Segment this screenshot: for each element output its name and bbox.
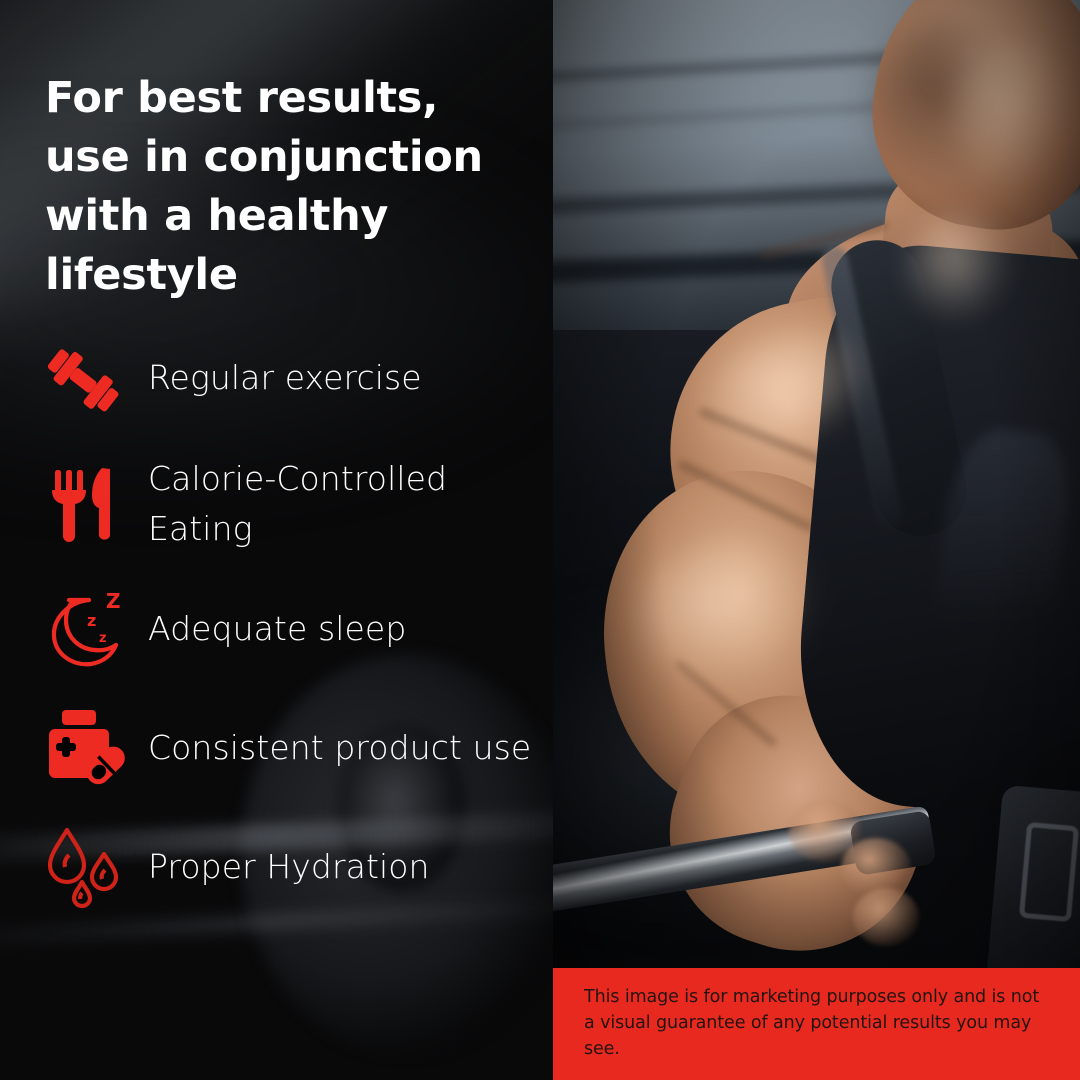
list-item: Z z z Adequate sleep [42, 586, 542, 672]
fork-knife-icon [42, 464, 148, 544]
disclaimer-banner: This image is for marketing purposes onl… [553, 968, 1080, 1080]
left-content-panel: For best results, use in conjunction wit… [0, 0, 553, 1080]
dumbbell-icon [42, 339, 148, 417]
svg-text:z: z [99, 631, 107, 646]
list-item: Calorie-Controlled Eating [42, 454, 542, 553]
svg-text:z: z [87, 611, 96, 630]
page-title: For best results, use in conjunction wit… [45, 69, 515, 305]
list-item-label: Consistent product use [148, 723, 531, 773]
pill-bottle-icon [42, 707, 148, 789]
photo-vignette [553, 0, 1080, 1080]
list-item-label: Adequate sleep [148, 604, 406, 654]
disclaimer-text: This image is for marketing purposes onl… [553, 985, 1080, 1063]
promo-graphic: For best results, use in conjunction wit… [0, 0, 1080, 1080]
svg-text:Z: Z [106, 589, 121, 613]
list-item: Regular exercise [42, 335, 542, 421]
list-item: Consistent product use [42, 705, 542, 791]
list-item-label: Proper Hydration [148, 842, 430, 892]
list-item-label: Regular exercise [148, 353, 422, 403]
water-drops-icon [42, 824, 148, 910]
lifestyle-checklist: Regular exercise Calorie-Cont [42, 335, 542, 910]
hero-photo-panel: This image is for marketing purposes onl… [553, 0, 1080, 1080]
list-item-label: Calorie-Controlled Eating [148, 454, 542, 553]
moon-sleep-icon: Z z z [42, 588, 148, 670]
list-item: Proper Hydration [42, 824, 542, 910]
